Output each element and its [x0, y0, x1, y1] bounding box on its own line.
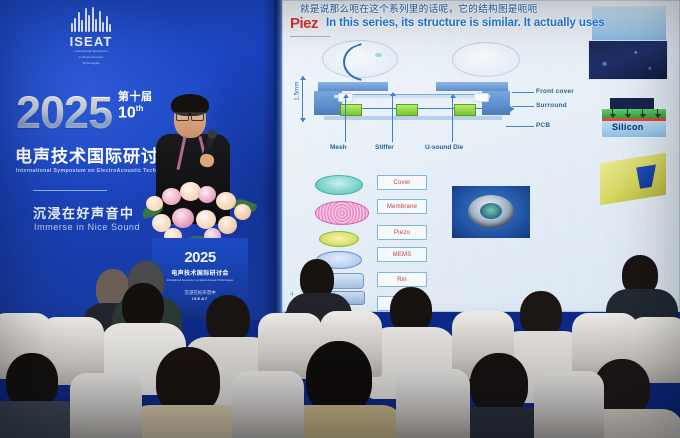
callout-mesh: Mesh	[330, 144, 347, 151]
photo-wafer-sample	[600, 153, 666, 205]
backdrop-year: 2025	[16, 90, 112, 135]
backdrop-edition: 第十届 10th	[118, 92, 153, 121]
stack-part-cover	[315, 175, 363, 195]
callout-leader-1	[512, 92, 534, 93]
mesh-block-right	[474, 93, 489, 102]
slide-title-underline	[290, 36, 330, 37]
silicon-layer-diagram: Silicon	[602, 98, 666, 140]
speaker-glasses	[175, 112, 205, 120]
logo-tagline-3: Technologies	[63, 62, 119, 66]
speaker-disc-left	[322, 40, 398, 78]
stack-part-membrane	[315, 201, 369, 225]
membrane-layer	[334, 94, 490, 98]
silicon-substrate	[602, 121, 666, 137]
audience-seat	[70, 373, 142, 438]
photo-microscope	[588, 40, 668, 80]
logo-wordmark: ISEAT	[63, 35, 119, 48]
callout-surround: Surround	[536, 102, 567, 109]
callout-u-sound-die: U-sound Die	[425, 144, 463, 151]
callout-pcb: PCB	[536, 122, 550, 129]
height-dimension-line	[302, 76, 303, 122]
audience-seat	[534, 371, 604, 438]
callout-front-cover: Front cover	[536, 88, 574, 95]
callout-leader-4	[345, 98, 346, 142]
cross-section-diagram: 1.5mm Front cover Surround PCB Mesh Stif…	[300, 40, 535, 165]
silicon-bottom-electrode	[602, 118, 666, 121]
pcb-layer	[324, 116, 502, 120]
audience-seat	[232, 371, 304, 438]
callout-leader-5	[392, 96, 393, 142]
slide-title-text: Piez	[290, 15, 318, 32]
surround-right	[482, 91, 510, 115]
u-sound-die-3	[454, 104, 476, 116]
callout-stiffer: Stiffer	[375, 144, 394, 151]
speaker-disc-right	[452, 42, 520, 77]
disc-center-dot	[375, 53, 382, 57]
backdrop-slogan-cn: 沉浸在好声音中	[33, 203, 135, 222]
subtitle-english: In this series, its structure is similar…	[326, 17, 680, 29]
stack-label-membrane: Membrane	[377, 199, 427, 214]
speaker-module-image	[468, 195, 514, 228]
audience-area	[0, 255, 680, 438]
conference-photo: ISEAT International Symposium on Electro…	[0, 0, 680, 438]
silicon-piezo-layer	[602, 109, 666, 118]
photo-speaker-module	[452, 186, 530, 238]
stack-part-piezo	[319, 231, 359, 247]
front-cover-left	[318, 82, 388, 91]
slide-title: Piez	[290, 16, 318, 31]
divider	[33, 190, 107, 191]
logo-tagline-2: on ElectroAcoustic	[63, 56, 119, 60]
iseat-logo: ISEAT International Symposium on Electro…	[63, 6, 119, 72]
stack-label-piezo: Piezo	[377, 225, 427, 240]
callout-leader-3	[506, 126, 534, 127]
mesh-block-left	[338, 93, 353, 102]
callout-leader-2	[512, 106, 534, 107]
front-cover-right	[436, 82, 508, 91]
u-sound-die-1	[340, 104, 362, 116]
stack-label-cover: Cover	[377, 175, 427, 190]
surround-left	[314, 91, 342, 115]
edition-cn: 第十届	[118, 92, 153, 103]
polarization-arrows-icon	[612, 109, 658, 117]
width-dimension-line	[326, 108, 514, 109]
edition-en: 10th	[118, 105, 153, 121]
silicon-top-electrode	[610, 98, 654, 109]
u-sound-die-2	[396, 104, 418, 116]
cross-section-body	[314, 78, 514, 136]
dimension-label: 1.5mm	[295, 81, 301, 100]
subtitle-chinese: 就是说那么呃在这个系列里的话呢，它的结构图是呃呃	[300, 1, 680, 15]
disc-arc-icon	[343, 43, 387, 81]
sound-wave-bars-icon	[63, 6, 119, 32]
backdrop-slogan-en: Immerse in Nice Sound	[34, 222, 140, 232]
callout-leader-6	[452, 98, 453, 142]
silicon-label: Silicon	[612, 122, 644, 132]
logo-tagline-1: International Symposium	[63, 50, 119, 54]
audience-seat	[396, 369, 470, 438]
